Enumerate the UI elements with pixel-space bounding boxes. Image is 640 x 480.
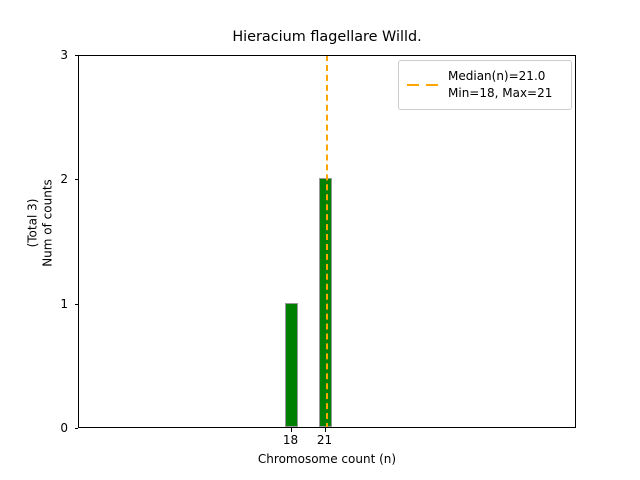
ytick-mark-0 <box>75 428 79 429</box>
legend-text-column: Median(n)=21.0 Min=18, Max=21 <box>448 68 552 102</box>
ytick-label-0: 0 <box>8 421 68 435</box>
xtick-mark-21 <box>325 428 326 432</box>
bar-18 <box>285 303 298 427</box>
xtick-mark-18 <box>291 428 292 432</box>
chart-title: Hieracium flagellare Willd. <box>78 30 576 46</box>
matplotlib-figure: Hieracium flagellare Willd. 0 1 2 3 18 2… <box>0 0 640 480</box>
legend: Median(n)=21.0 Min=18, Max=21 <box>398 60 572 110</box>
plot-area <box>78 55 576 428</box>
orange-dashed-line-icon <box>407 79 441 91</box>
y-axis-label-line1: Num of counts <box>41 179 56 267</box>
xtick-label-21: 21 <box>305 433 345 447</box>
legend-label-minmax: Min=18, Max=21 <box>448 85 552 102</box>
median-line <box>326 56 328 427</box>
legend-entry-median: Median(n)=21.0 Min=18, Max=21 <box>407 68 563 102</box>
x-axis-label: Chromosome count (n) <box>78 452 576 466</box>
legend-label-median: Median(n)=21.0 <box>448 68 552 85</box>
y-axis-label: (Total 3) Num of counts <box>23 37 59 410</box>
y-axis-label-line2: (Total 3) <box>26 199 41 248</box>
plot-inner <box>79 56 575 427</box>
